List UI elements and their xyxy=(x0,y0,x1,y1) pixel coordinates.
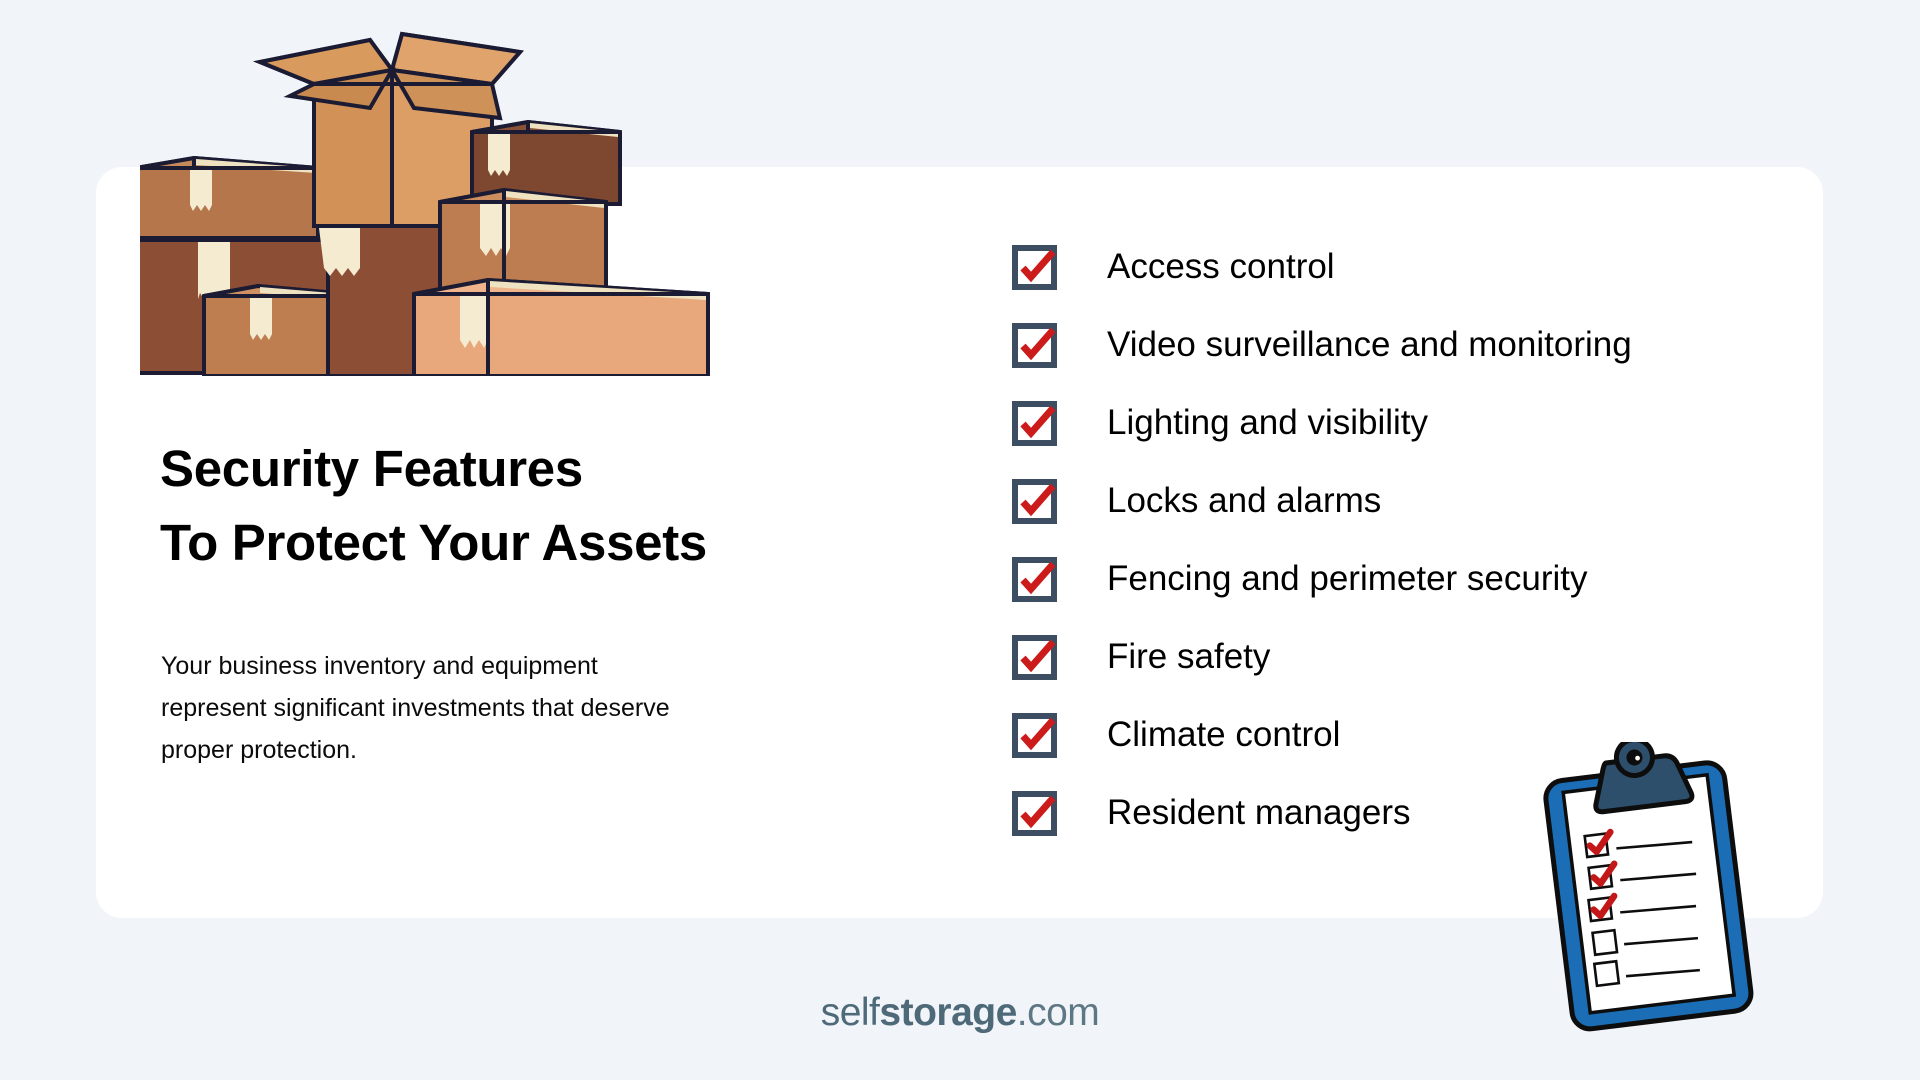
checklist-item-label: Access control xyxy=(1107,248,1335,286)
page-title: Security Features To Protect Your Assets xyxy=(160,432,920,580)
checked-checkbox-icon[interactable] xyxy=(1012,556,1058,602)
checklist-item-label: Climate control xyxy=(1107,716,1340,754)
checklist-item-label: Fencing and perimeter security xyxy=(1107,560,1588,598)
checked-checkbox-icon[interactable] xyxy=(1012,400,1058,446)
logo-part-storage: storage xyxy=(879,991,1016,1034)
checklist-item-label: Locks and alarms xyxy=(1107,482,1381,520)
checked-checkbox-icon[interactable] xyxy=(1012,244,1058,290)
logo-part-domain: .com xyxy=(1017,991,1100,1034)
checked-checkbox-icon[interactable] xyxy=(1012,322,1058,368)
checklist-item-label: Fire safety xyxy=(1107,638,1270,676)
checklist-item-label: Resident managers xyxy=(1107,794,1411,832)
checked-checkbox-icon[interactable] xyxy=(1012,790,1058,836)
page-root: Security Features To Protect Your Assets… xyxy=(0,0,1920,1080)
checklist-item[interactable]: Fire safety xyxy=(1012,618,1732,696)
checklist-item[interactable]: Access control xyxy=(1012,228,1732,306)
checklist-item[interactable]: Lighting and visibility xyxy=(1012,384,1732,462)
checked-checkbox-icon[interactable] xyxy=(1012,712,1058,758)
checklist-item[interactable]: Fencing and perimeter security xyxy=(1012,540,1732,618)
stacked-cardboard-boxes-illustration xyxy=(140,28,720,376)
selfstorage-logo[interactable]: selfstorage.com xyxy=(0,991,1920,1035)
checked-checkbox-icon[interactable] xyxy=(1012,478,1058,524)
checklist-item-label: Video surveillance and monitoring xyxy=(1107,326,1632,364)
logo-part-self: self xyxy=(821,991,880,1034)
checklist-item[interactable]: Video surveillance and monitoring xyxy=(1012,306,1732,384)
checklist-item[interactable]: Locks and alarms xyxy=(1012,462,1732,540)
page-subtitle: Your business inventory and equipment re… xyxy=(161,645,691,771)
checked-checkbox-icon[interactable] xyxy=(1012,634,1058,680)
checklist-item-label: Lighting and visibility xyxy=(1107,404,1428,442)
